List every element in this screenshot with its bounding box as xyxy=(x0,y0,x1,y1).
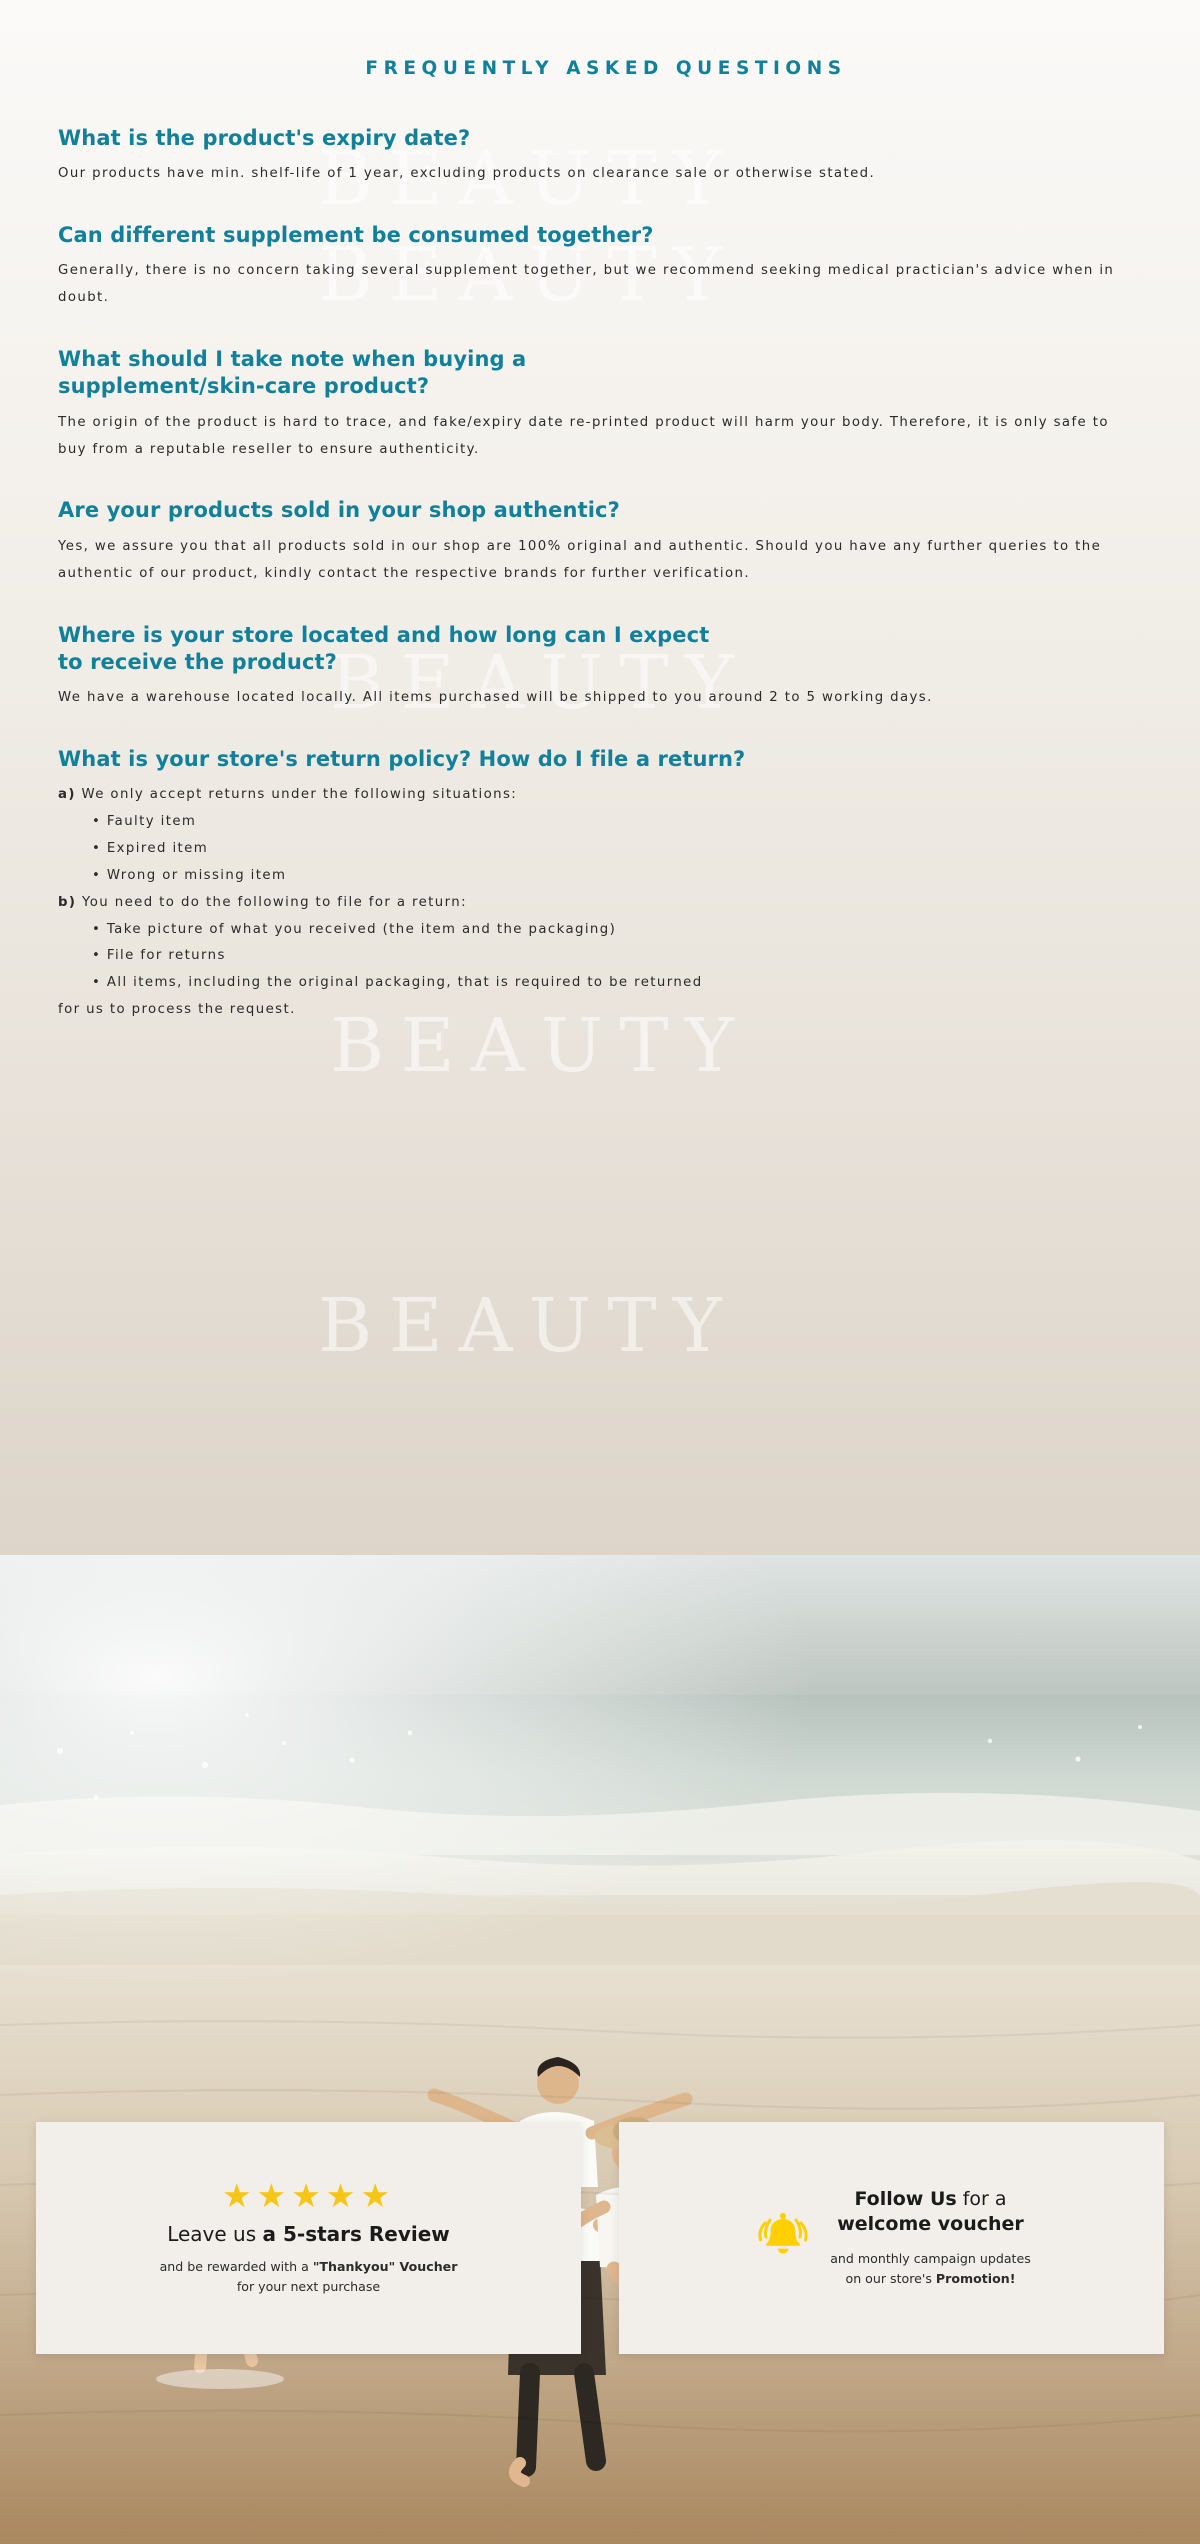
bell-icon xyxy=(752,2205,814,2271)
review-sub-bold: "Thankyou" Voucher xyxy=(313,2259,458,2274)
faq-question: What is your store's return policy? How … xyxy=(58,746,1142,773)
review-headline-bold: a 5-stars Review xyxy=(263,2222,450,2246)
follow-card[interactable]: Follow Us for a welcome voucher and mont… xyxy=(619,2122,1164,2354)
list-item: • Faulty item xyxy=(58,809,1142,836)
list-item: • All items, including the original pack… xyxy=(58,970,1142,997)
faq-item: Are your products sold in your shop auth… xyxy=(58,497,1142,587)
returns-closing: for us to process the request. xyxy=(58,997,1142,1024)
follow-headline-bold-1: Follow Us xyxy=(854,2188,956,2210)
follow-sub-bold: Promotion! xyxy=(936,2271,1016,2286)
list-text: You need to do the following to file for… xyxy=(82,895,467,910)
page-title: FREQUENTLY ASKED QUESTIONS xyxy=(58,0,1142,79)
review-sub-line2: for your next purchase xyxy=(237,2279,380,2294)
list-item: • File for returns xyxy=(58,943,1142,970)
faq-question: Are your products sold in your shop auth… xyxy=(58,497,1142,524)
beach-hero-photo: BEAUTY xyxy=(0,1555,1200,2544)
faq-answer: The origin of the product is hard to tra… xyxy=(58,410,1142,464)
faq-question-line: to receive the product? xyxy=(58,650,337,674)
faq-question-line: supplement/skin-care product? xyxy=(58,374,429,398)
promo-cards: ★★★★★ Leave us a 5-stars Review and be r… xyxy=(0,2122,1200,2362)
faq-item: What should I take note when buying a su… xyxy=(58,346,1142,463)
review-card[interactable]: ★★★★★ Leave us a 5-stars Review and be r… xyxy=(36,2122,581,2354)
list-text: We only accept returns under the followi… xyxy=(81,787,517,802)
faq-item: Can different supplement be consumed tog… xyxy=(58,222,1142,312)
list-item: • Wrong or missing item xyxy=(58,863,1142,890)
follow-sub-line1: and monthly campaign updates xyxy=(830,2251,1031,2266)
faq-answer: Our products have min. shelf-life of 1 y… xyxy=(58,161,1142,188)
returns-group-b: b) You need to do the following to file … xyxy=(58,890,1142,917)
faq-question: Can different supplement be consumed tog… xyxy=(58,222,1142,249)
returns-group-a: a) We only accept returns under the foll… xyxy=(58,782,1142,809)
list-item: • Take picture of what you received (the… xyxy=(58,917,1142,944)
review-sub-plain: and be rewarded with a xyxy=(160,2259,313,2274)
review-headline: Leave us a 5-stars Review xyxy=(167,2222,450,2246)
faq-answer: Yes, we assure you that all products sol… xyxy=(58,534,1142,588)
faq-question-line: Where is your store located and how long… xyxy=(58,623,709,647)
faq-answer: We have a warehouse located locally. All… xyxy=(58,685,1142,712)
follow-headline: Follow Us for a welcome voucher xyxy=(830,2187,1031,2238)
beach-illustration: BEAUTY xyxy=(0,1555,1200,2544)
list-marker: b) xyxy=(58,895,76,910)
star-rating-icon: ★★★★★ xyxy=(222,2179,395,2212)
list-marker: a) xyxy=(58,787,76,802)
review-headline-plain: Leave us xyxy=(167,2222,262,2246)
follow-sub-plain: on our store's xyxy=(845,2271,935,2286)
faq-section: BEAUTY BEAUTY BEAUTY BEAUTY BEAUTY FREQU… xyxy=(0,0,1200,1555)
follow-headline-bold-2: welcome voucher xyxy=(837,2213,1024,2235)
faq-item-returns: What is your store's return policy? How … xyxy=(58,746,1142,1024)
faq-item: Where is your store located and how long… xyxy=(58,622,1142,712)
list-item: • Expired item xyxy=(58,836,1142,863)
faq-question-line: What should I take note when buying a xyxy=(58,347,526,371)
review-subtext: and be rewarded with a "Thankyou" Vouche… xyxy=(160,2257,458,2298)
faq-question: Where is your store located and how long… xyxy=(58,622,1142,677)
faq-question: What should I take note when buying a su… xyxy=(58,346,1142,401)
faq-item: What is the product's expiry date? Our p… xyxy=(58,125,1142,188)
beauty-watermark: BEAUTY xyxy=(318,1283,738,1369)
follow-subtext: and monthly campaign updates on our stor… xyxy=(830,2249,1031,2290)
follow-headline-plain: for a xyxy=(957,2188,1007,2210)
faq-answer: Generally, there is no concern taking se… xyxy=(58,258,1142,312)
faq-question: What is the product's expiry date? xyxy=(58,125,1142,152)
